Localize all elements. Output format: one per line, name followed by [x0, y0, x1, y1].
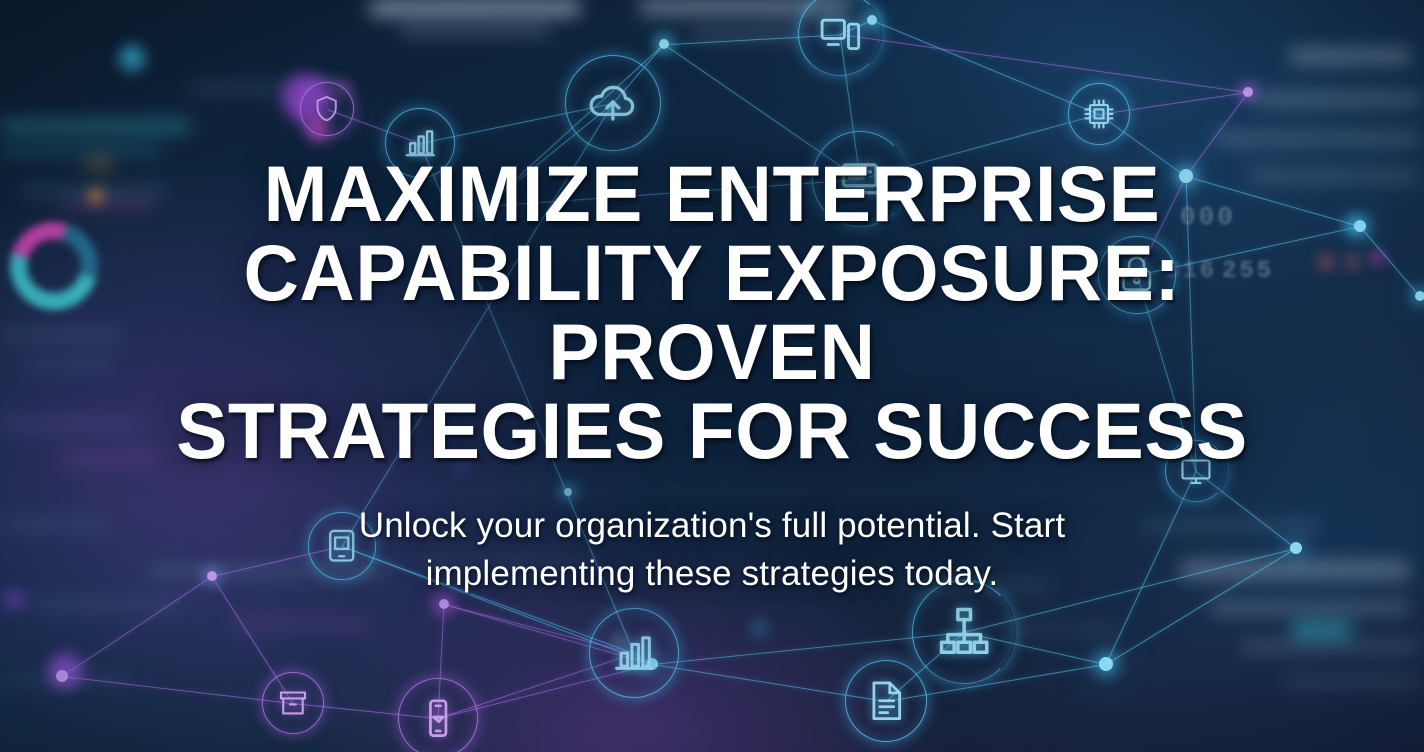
page-title-line-2: CAPABILITY EXPOSURE: PROVEN — [130, 233, 1294, 391]
page-subtitle-line-2: implementing these strategies today. — [359, 550, 1065, 598]
page-subtitle-line-1: Unlock your organization's full potentia… — [359, 502, 1065, 550]
hero-banner: 000 316 255 MAXIMIZE ENTERPRISECAPABILIT… — [0, 0, 1424, 752]
banner-content: MAXIMIZE ENTERPRISECAPABILITY EXPOSURE: … — [0, 0, 1424, 752]
page-title-line-1: MAXIMIZE ENTERPRISE — [130, 154, 1294, 233]
page-title: MAXIMIZE ENTERPRISECAPABILITY EXPOSURE: … — [130, 154, 1294, 470]
page-title-line-3: STRATEGIES FOR SUCCESS — [130, 391, 1294, 470]
page-subtitle: Unlock your organization's full potentia… — [359, 502, 1065, 598]
